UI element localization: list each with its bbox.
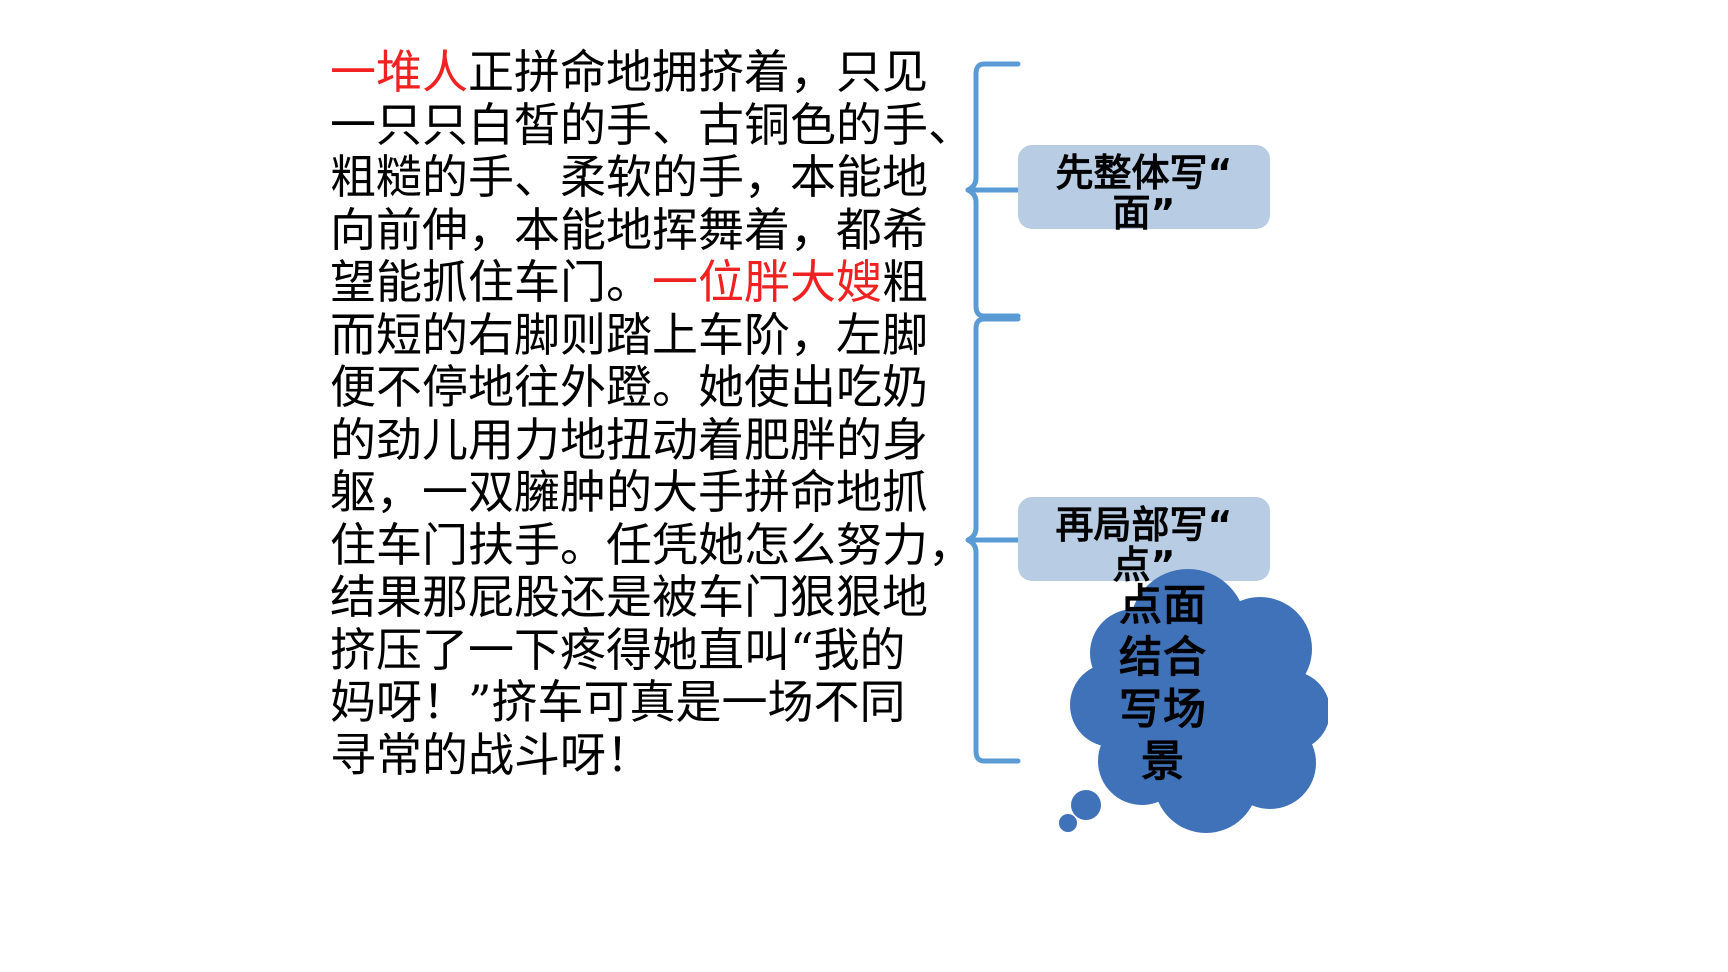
passage-line-text: 妈呀！”挤车可真是一场不同 <box>330 675 906 729</box>
passage-line: 住车门扶手。任凭她怎么努力， <box>330 519 950 572</box>
passage-line-text: 粗 <box>882 255 928 309</box>
cloud-line: 景 <box>1098 736 1228 788</box>
passage-line-text: 正拼命地拥挤着，只见 <box>468 45 928 99</box>
highlight-phrase: 一位胖大嫂 <box>652 255 882 309</box>
passage-text: 一堆人正拼命地拥挤着，只见 一只只白皙的手、古铜色的手、 粗糙的手、柔软的手，本… <box>330 46 950 781</box>
passage-line: 挤压了一下疼得她直叫“我的 <box>330 624 950 677</box>
cloud-line: 写场 <box>1098 684 1228 736</box>
passage-line: 妈呀！”挤车可真是一场不同 <box>330 676 950 729</box>
passage-line-text: 躯，一双臃肿的大手拼命地抓 <box>330 465 928 519</box>
label-box-line1: 先整体写“ <box>1028 151 1260 195</box>
passage-line-text: 挤压了一下疼得她直叫“我的 <box>330 623 906 677</box>
passage-line: 结果那屁股还是被车门狠狠地 <box>330 571 950 624</box>
passage-line-text: 的劲儿用力地扭动着肥胖的身 <box>330 413 928 467</box>
passage-line-text: 结果那屁股还是被车门狠狠地 <box>330 570 928 624</box>
passage-line-text: 而短的右脚则踏上车阶，左脚 <box>330 308 928 362</box>
passage-line-text: 便不停地往外蹬。她使出吃奶 <box>330 360 928 414</box>
passage-line-text: 一只只白皙的手、古铜色的手、 <box>330 98 974 152</box>
cloud-line: 结合 <box>1098 632 1228 684</box>
highlight-phrase: 一堆人 <box>330 45 468 99</box>
passage-line-text: 寻常的战斗呀！ <box>330 728 652 782</box>
passage-line: 而短的右脚则踏上车阶，左脚 <box>330 309 950 362</box>
slide-canvas: 一堆人正拼命地拥挤着，只见 一只只白皙的手、古铜色的手、 粗糙的手、柔软的手，本… <box>0 0 1728 972</box>
passage-line: 向前伸，本能地挥舞着，都希 <box>330 204 950 257</box>
passage-line-text: 向前伸，本能地挥舞着，都希 <box>330 203 928 257</box>
label-box-line1: 再局部写“ <box>1028 503 1260 547</box>
passage-line-text: 粗糙的手、柔软的手，本能地 <box>330 150 928 204</box>
passage-line: 寻常的战斗呀！ <box>330 729 950 782</box>
label-box-line2: 面” <box>1028 191 1260 235</box>
passage-line: 一只只白皙的手、古铜色的手、 <box>330 99 950 152</box>
passage-line-text: 住车门扶手。任凭她怎么努力， <box>330 518 974 572</box>
passage-line: 的劲儿用力地扭动着肥胖的身 <box>330 414 950 467</box>
cloud-line: 点面 <box>1098 580 1228 632</box>
passage-line: 躯，一双臃肿的大手拼命地抓 <box>330 466 950 519</box>
passage-line-text: 望能抓住车门。 <box>330 255 652 309</box>
label-box-overall-aspect[interactable]: 先整体写“ 面” <box>1018 145 1270 229</box>
passage-line: 便不停地往外蹬。她使出吃奶 <box>330 361 950 414</box>
passage-line: 一堆人正拼命地拥挤着，只见 <box>330 46 950 99</box>
cloud-label-text: 点面 结合 写场 景 <box>1098 580 1228 788</box>
passage-line: 粗糙的手、柔软的手，本能地 <box>330 151 950 204</box>
passage-line: 望能抓住车门。一位胖大嫂粗 <box>330 256 950 309</box>
